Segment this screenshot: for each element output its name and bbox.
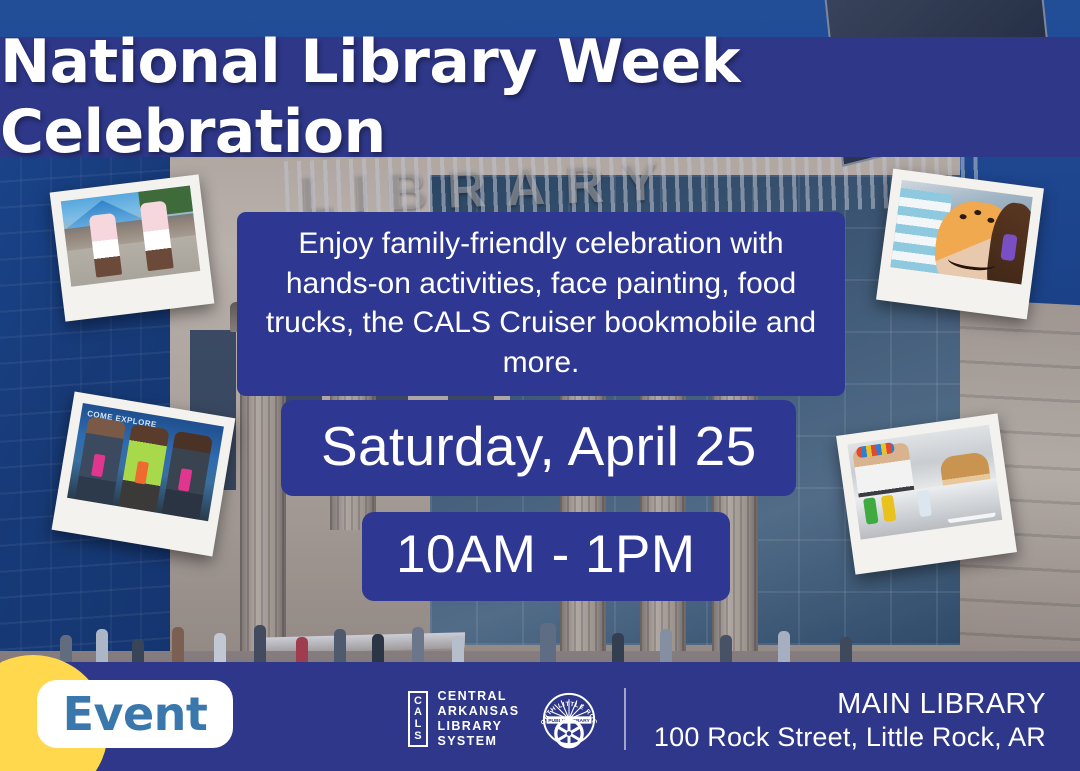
title-banner: National Library Week Celebration	[0, 37, 1080, 157]
cals-wordmark: CENTRAL ARKANSAS LIBRARY SYSTEM	[437, 689, 519, 750]
venue-info: MAIN LIBRARY 100 Rock Street, Little Roc…	[654, 688, 1046, 753]
photo-teens-drinks-image: COME EXPLORE	[67, 403, 224, 521]
north-little-rock-library-seal: NORTH LITTLE ROCK PUBLIC LIBRARY	[536, 686, 602, 752]
footer-divider	[624, 688, 626, 750]
event-description: Enjoy family-friendly celebration with h…	[237, 212, 845, 396]
cals-initials-box: C A L S	[408, 691, 428, 747]
event-badge: Event	[37, 680, 233, 748]
logo-group: C A L S CENTRAL ARKANSAS LIBRARY SYSTEM	[408, 683, 626, 755]
cals-initial: L	[415, 719, 422, 731]
event-time: 10AM - 1PM	[396, 525, 696, 584]
photo-dancers	[50, 174, 215, 321]
photo-face-painting	[876, 169, 1044, 320]
event-date: Saturday, April 25	[321, 415, 756, 477]
page-title: National Library Week Celebration	[0, 27, 1080, 167]
cals-word: LIBRARY	[437, 719, 519, 734]
footer-bar: Event C A L S CENTRAL ARKANSAS LIBRARY S…	[0, 662, 1080, 771]
photo-science-activity-image	[847, 425, 1002, 540]
cals-word: ARKANSAS	[437, 704, 519, 719]
cals-initial: S	[414, 731, 422, 743]
venue-name: MAIN LIBRARY	[654, 688, 1046, 720]
event-date-block: Saturday, April 25	[281, 400, 796, 496]
event-time-block: 10AM - 1PM	[362, 512, 730, 601]
photo-dancers-image	[61, 185, 201, 286]
photo-teens-drinks: COME EXPLORE	[52, 392, 236, 557]
cals-word: CENTRAL	[437, 689, 519, 704]
event-poster: LIBRARY	[0, 0, 1080, 771]
photo-face-painting-image	[890, 180, 1032, 284]
event-badge-label: Event	[63, 687, 208, 741]
cals-logo: C A L S CENTRAL ARKANSAS LIBRARY SYSTEM	[408, 689, 520, 750]
cals-word: SYSTEM	[437, 734, 519, 749]
venue-address: 100 Rock Street, Little Rock, AR	[654, 721, 1046, 753]
photo-science-activity	[836, 413, 1017, 574]
